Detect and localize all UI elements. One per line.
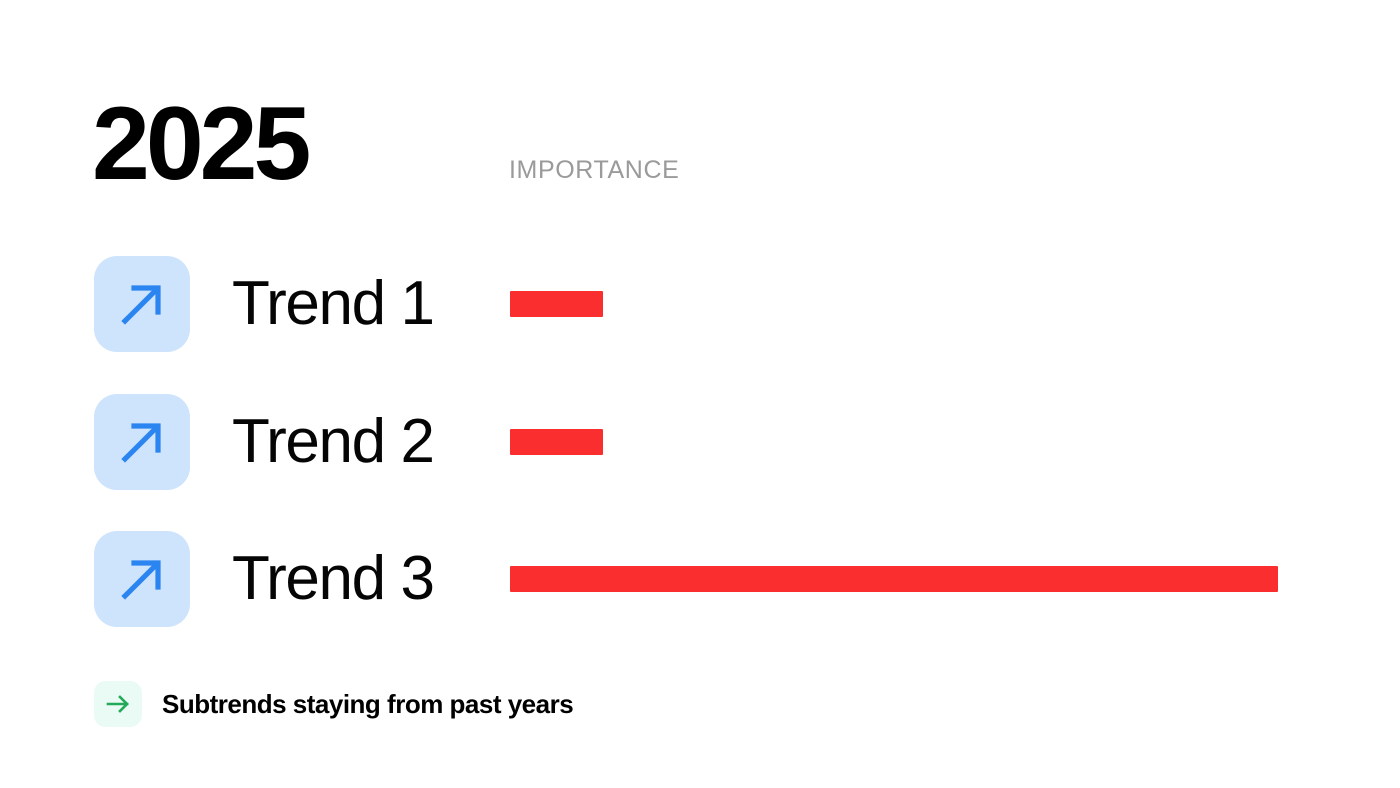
trend-badge (94, 531, 190, 627)
trend-label: Trend 2 (232, 411, 434, 473)
trend-row[interactable]: Trend 3 (94, 531, 1354, 627)
importance-column-header: IMPORTANCE (509, 158, 679, 183)
importance-bar-fill (510, 429, 603, 455)
importance-bar-track (510, 566, 1354, 592)
importance-bar-fill (510, 566, 1278, 592)
trend-row[interactable]: Trend 2 (94, 394, 1354, 490)
importance-bar-track (510, 429, 1354, 455)
page-title: 2025 (92, 92, 307, 196)
trend-badge (94, 256, 190, 352)
arrow-right-icon (104, 690, 132, 718)
importance-bar-track (510, 291, 1354, 317)
arrow-up-right-icon (116, 553, 168, 605)
trend-label: Trend 3 (232, 548, 434, 610)
legend-badge (94, 681, 142, 727)
arrow-up-right-icon (116, 278, 168, 330)
trend-badge (94, 394, 190, 490)
legend: Subtrends staying from past years (94, 681, 573, 727)
legend-label: Subtrends staying from past years (162, 691, 573, 717)
importance-bar-fill (510, 291, 603, 317)
slide-canvas: 2025 IMPORTANCE Trend 1 (0, 0, 1400, 788)
trend-label: Trend 1 (232, 273, 434, 335)
arrow-up-right-icon (116, 416, 168, 468)
trend-row[interactable]: Trend 1 (94, 256, 1354, 352)
